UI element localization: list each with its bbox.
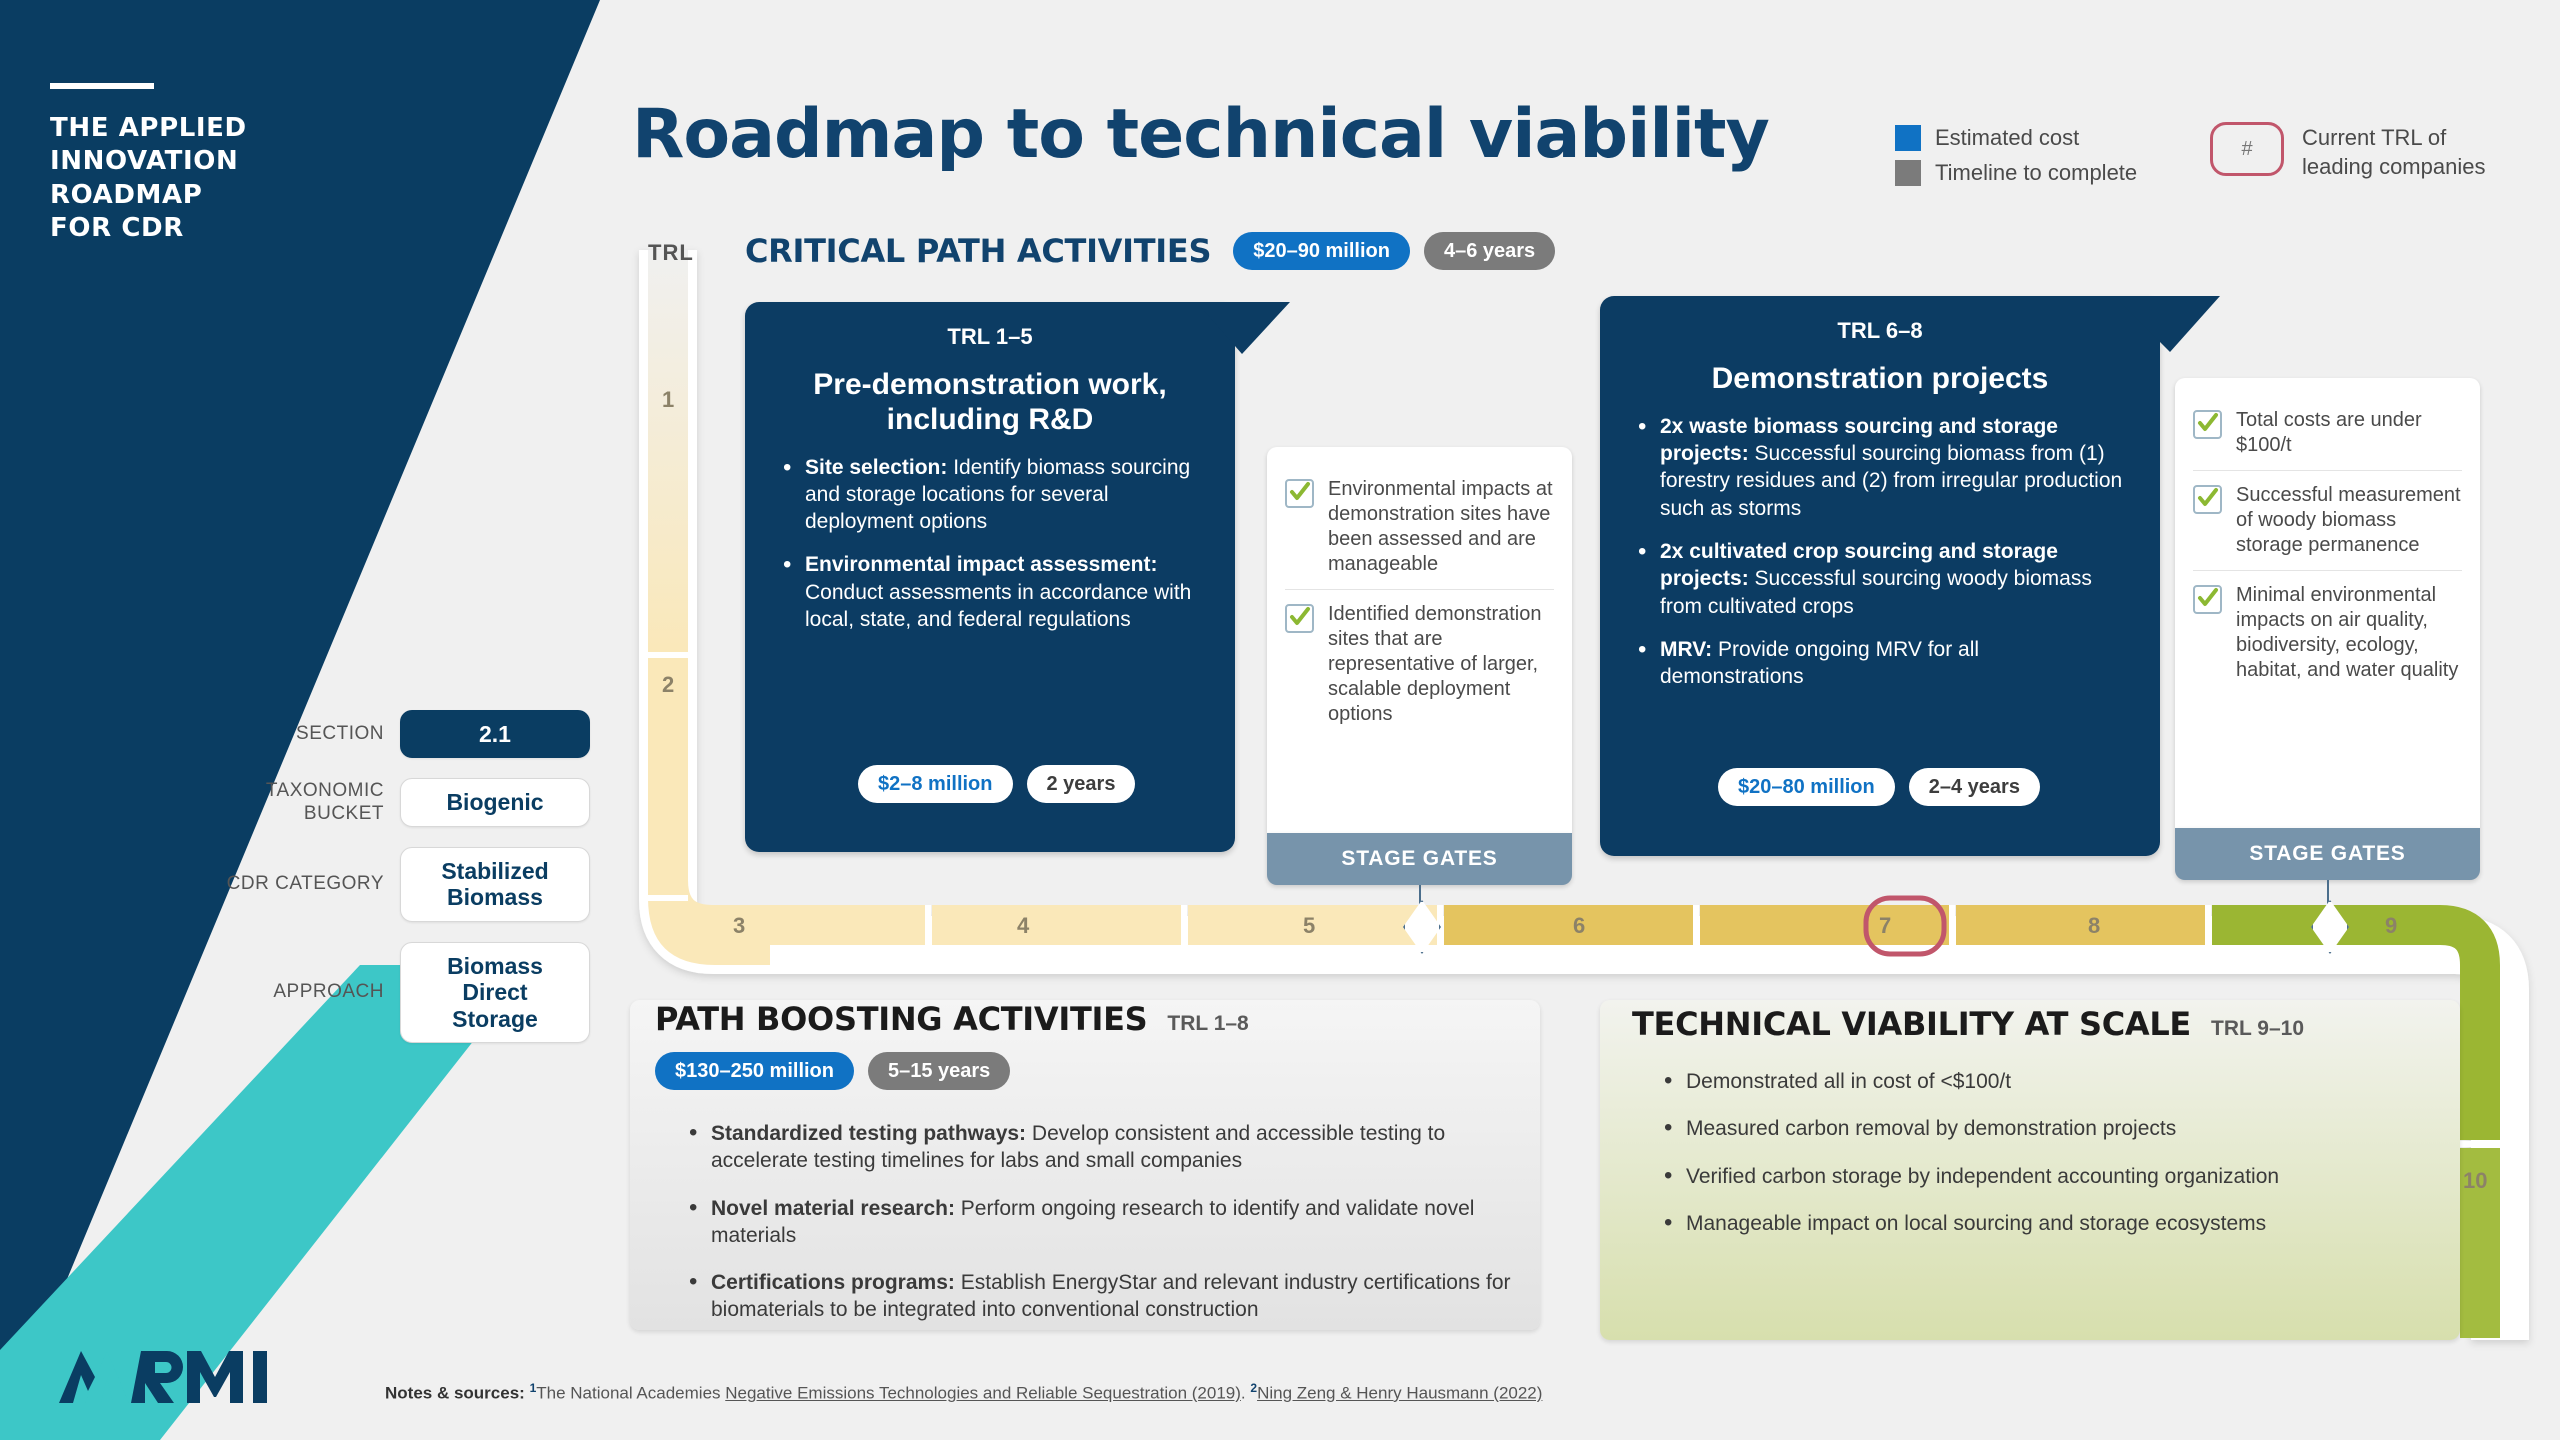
panel-2-trl-range: TRL 6–8: [1634, 318, 2126, 344]
trl-cell-3: 3: [733, 913, 745, 939]
panel-1-heading: Pre-demonstration work,including R&D: [779, 368, 1201, 438]
meta-row-section: SECTION 2.1: [150, 710, 590, 758]
panel-2-bullet-1: 2x cultivated crop sourcing and storage …: [1660, 538, 2126, 620]
checkbox-checked-icon: [1285, 604, 1314, 633]
path-boosting-title: PATH BOOSTING ACTIVITIES: [655, 1000, 1147, 1038]
path-boosting-badges: $130–250 million 5–15 years: [655, 1052, 1010, 1090]
technical-viability-trl: TRL 9–10: [2211, 1017, 2304, 1041]
trl-cell-9: 9: [2385, 913, 2397, 939]
legend-label-timeline: Timeline to complete: [1935, 160, 2137, 186]
meta-label-approach: APPROACH: [184, 981, 400, 1004]
path-boosting-bullet-1: Novel material research: Perform ongoing…: [711, 1195, 1515, 1250]
stage-gate-text: Environmental impacts at demonstration s…: [1328, 477, 1554, 577]
stage-gate-text: Identified demonstration sites that are …: [1328, 602, 1554, 727]
panel-1-bullet-1: Environmental impact assessment: Conduct…: [805, 551, 1201, 633]
panel-2-cost-badge: $20–80 million: [1718, 768, 1895, 806]
legend: Estimated cost Timeline to complete: [1895, 125, 2137, 195]
technical-viability-bullet-3: Manageable impact on local sourcing and …: [1686, 1210, 2420, 1237]
technical-viability-title: TECHNICAL VIABILITY AT SCALE: [1632, 1005, 2191, 1043]
rmi-logo: [55, 1345, 285, 1405]
critical-path-timeline-badge: 4–6 years: [1424, 232, 1555, 270]
critical-path-title: CRITICAL PATH ACTIVITIES: [745, 232, 1211, 270]
trl-marker-icon: #: [2210, 122, 2284, 176]
notes-and-sources: Notes & sources: 1The National Academies…: [385, 1381, 1542, 1404]
panel-2-bullets: 2x waste biomass sourcing and storage pr…: [1634, 413, 2126, 691]
panel-1-bullets: Site selection: Identify biomass sourcin…: [779, 454, 1201, 634]
panel-2-badges: $20–80 million 2–4 years: [1718, 768, 2040, 806]
panel-1-bullet-0: Site selection: Identify biomass sourcin…: [805, 454, 1201, 536]
critical-path-header: CRITICAL PATH ACTIVITIES $20–90 million …: [745, 232, 1555, 270]
panel-1-notch: [1200, 302, 1290, 402]
meta-label-section: SECTION: [184, 723, 400, 746]
checkbox-checked-icon: [1285, 479, 1314, 508]
stage-gate-diamond-2: [2311, 900, 2349, 954]
stage-gates-bar-1: STAGE GATES: [1267, 833, 1572, 885]
technical-viability-bullet-0: Demonstrated all in cost of <$100/t: [1686, 1068, 2420, 1095]
panel-2-bullet-0: 2x waste biomass sourcing and storage pr…: [1660, 413, 2126, 522]
stage-gate-text: Total costs are under $100/t: [2236, 408, 2462, 458]
notes-mid: .: [1241, 1384, 1250, 1403]
panel-1-cost-badge: $2–8 million: [858, 765, 1013, 803]
meta-label-taxonomic-bucket: TAXONOMICBUCKET: [184, 780, 400, 826]
stage-gate-item: Minimal environmental impacts on air qua…: [2193, 570, 2462, 695]
trl-cell-6: 6: [1573, 913, 1585, 939]
page-title: Roadmap to technical viability: [632, 95, 1769, 174]
path-boosting-trl: TRL 1–8: [1167, 1012, 1248, 1036]
legend-item-estimated-cost: Estimated cost: [1895, 125, 2137, 151]
panel-2-heading: Demonstration projects: [1634, 362, 2126, 397]
trl-cell-2: 2: [662, 672, 674, 698]
panel-2-bullet-2: MRV: Provide ongoing MRV for all demonst…: [1660, 636, 2126, 691]
trl-axis-label: TRL: [648, 240, 694, 266]
meta-value-cdr-category[interactable]: StabilizedBiomass: [400, 847, 590, 922]
stage-gates-card-1: Environmental impacts at demonstration s…: [1267, 447, 1572, 833]
panel-1-timeline-badge: 2 years: [1027, 765, 1136, 803]
brand-rule: [50, 83, 154, 89]
path-boosting-timeline-badge: 5–15 years: [868, 1052, 1010, 1090]
critical-path-cost-badge: $20–90 million: [1233, 232, 1410, 270]
path-boosting-bullet-0: Standardized testing pathways: Develop c…: [711, 1120, 1515, 1175]
checkbox-checked-icon: [2193, 410, 2222, 439]
notes-link-2[interactable]: Ning Zeng & Henry Hausmann (2022): [1257, 1384, 1542, 1403]
path-boosting-cost-badge: $130–250 million: [655, 1052, 854, 1090]
trl-cell-7: 7: [1879, 913, 1891, 939]
meta-row-taxonomic-bucket: TAXONOMICBUCKET Biogenic: [150, 778, 590, 826]
panel-2-timeline-badge: 2–4 years: [1909, 768, 2040, 806]
checkbox-checked-icon: [2193, 485, 2222, 514]
stage-gate-item: Environmental impacts at demonstration s…: [1285, 465, 1554, 589]
metadata-panel: SECTION 2.1 TAXONOMICBUCKET Biogenic CDR…: [150, 710, 590, 1063]
stage-gate-item: Total costs are under $100/t: [2193, 396, 2462, 470]
legend-item-timeline: Timeline to complete: [1895, 160, 2137, 186]
meta-value-section[interactable]: 2.1: [400, 710, 590, 758]
trl-cell-10: 10: [2463, 1168, 2487, 1194]
infographic-canvas: THE APPLIEDINNOVATIONROADMAPFOR CDR SECT…: [0, 0, 2560, 1440]
cost-swatch-icon: [1895, 125, 1921, 151]
technical-viability-bullets: Demonstrated all in cost of <$100/t Meas…: [1660, 1068, 2420, 1257]
stage-gate-diamond-1: [1403, 900, 1441, 954]
meta-row-cdr-category: CDR CATEGORY StabilizedBiomass: [150, 847, 590, 922]
path-boosting-bullet-2: Certifications programs: Establish Energ…: [711, 1269, 1515, 1324]
legend-label-current-trl: Current TRL ofleading companies: [2302, 124, 2485, 181]
timeline-swatch-icon: [1895, 160, 1921, 186]
checkbox-checked-icon: [2193, 585, 2222, 614]
path-boosting-header: PATH BOOSTING ACTIVITIES TRL 1–8: [655, 1000, 1249, 1038]
legend-label-estimated-cost: Estimated cost: [1935, 125, 2079, 151]
stage-gates-bar-2: STAGE GATES: [2175, 828, 2480, 880]
path-boosting-bullets: Standardized testing pathways: Develop c…: [685, 1120, 1515, 1344]
legend-item-current-trl: # Current TRL ofleading companies: [2210, 122, 2485, 181]
notes-part-1: The National Academies: [536, 1384, 725, 1403]
stage-gate-item: Successful measurement of woody biomass …: [2193, 470, 2462, 570]
panel-1-badges: $2–8 million 2 years: [858, 765, 1135, 803]
panel-1-trl-range: TRL 1–5: [779, 324, 1201, 350]
technical-viability-bullet-2: Verified carbon storage by independent a…: [1686, 1163, 2420, 1190]
stage-gate-text: Minimal environmental impacts on air qua…: [2236, 583, 2462, 683]
stage-gate-item: Identified demonstration sites that are …: [1285, 589, 1554, 739]
stage-gate-text: Successful measurement of woody biomass …: [2236, 483, 2462, 558]
brand-title: THE APPLIEDINNOVATIONROADMAPFOR CDR: [50, 112, 370, 245]
trl-cell-8: 8: [2088, 913, 2100, 939]
meta-label-cdr-category: CDR CATEGORY: [184, 873, 400, 896]
notes-label: Notes & sources:: [385, 1384, 525, 1403]
technical-viability-bullet-1: Measured carbon removal by demonstration…: [1686, 1115, 2420, 1142]
meta-value-approach[interactable]: BiomassDirectStorage: [400, 942, 590, 1043]
meta-row-approach: APPROACH BiomassDirectStorage: [150, 942, 590, 1043]
trl-cell-5: 5: [1303, 913, 1315, 939]
trl-cell-4: 4: [1017, 913, 1029, 939]
notes-link-1[interactable]: Negative Emissions Technologies and Reli…: [725, 1384, 1241, 1403]
trl-cell-1: 1: [662, 387, 674, 413]
stage-gates-card-2: Total costs are under $100/t Successful …: [2175, 378, 2480, 828]
technical-viability-header: TECHNICAL VIABILITY AT SCALE TRL 9–10: [1632, 1005, 2304, 1043]
meta-value-taxonomic-bucket[interactable]: Biogenic: [400, 778, 590, 826]
